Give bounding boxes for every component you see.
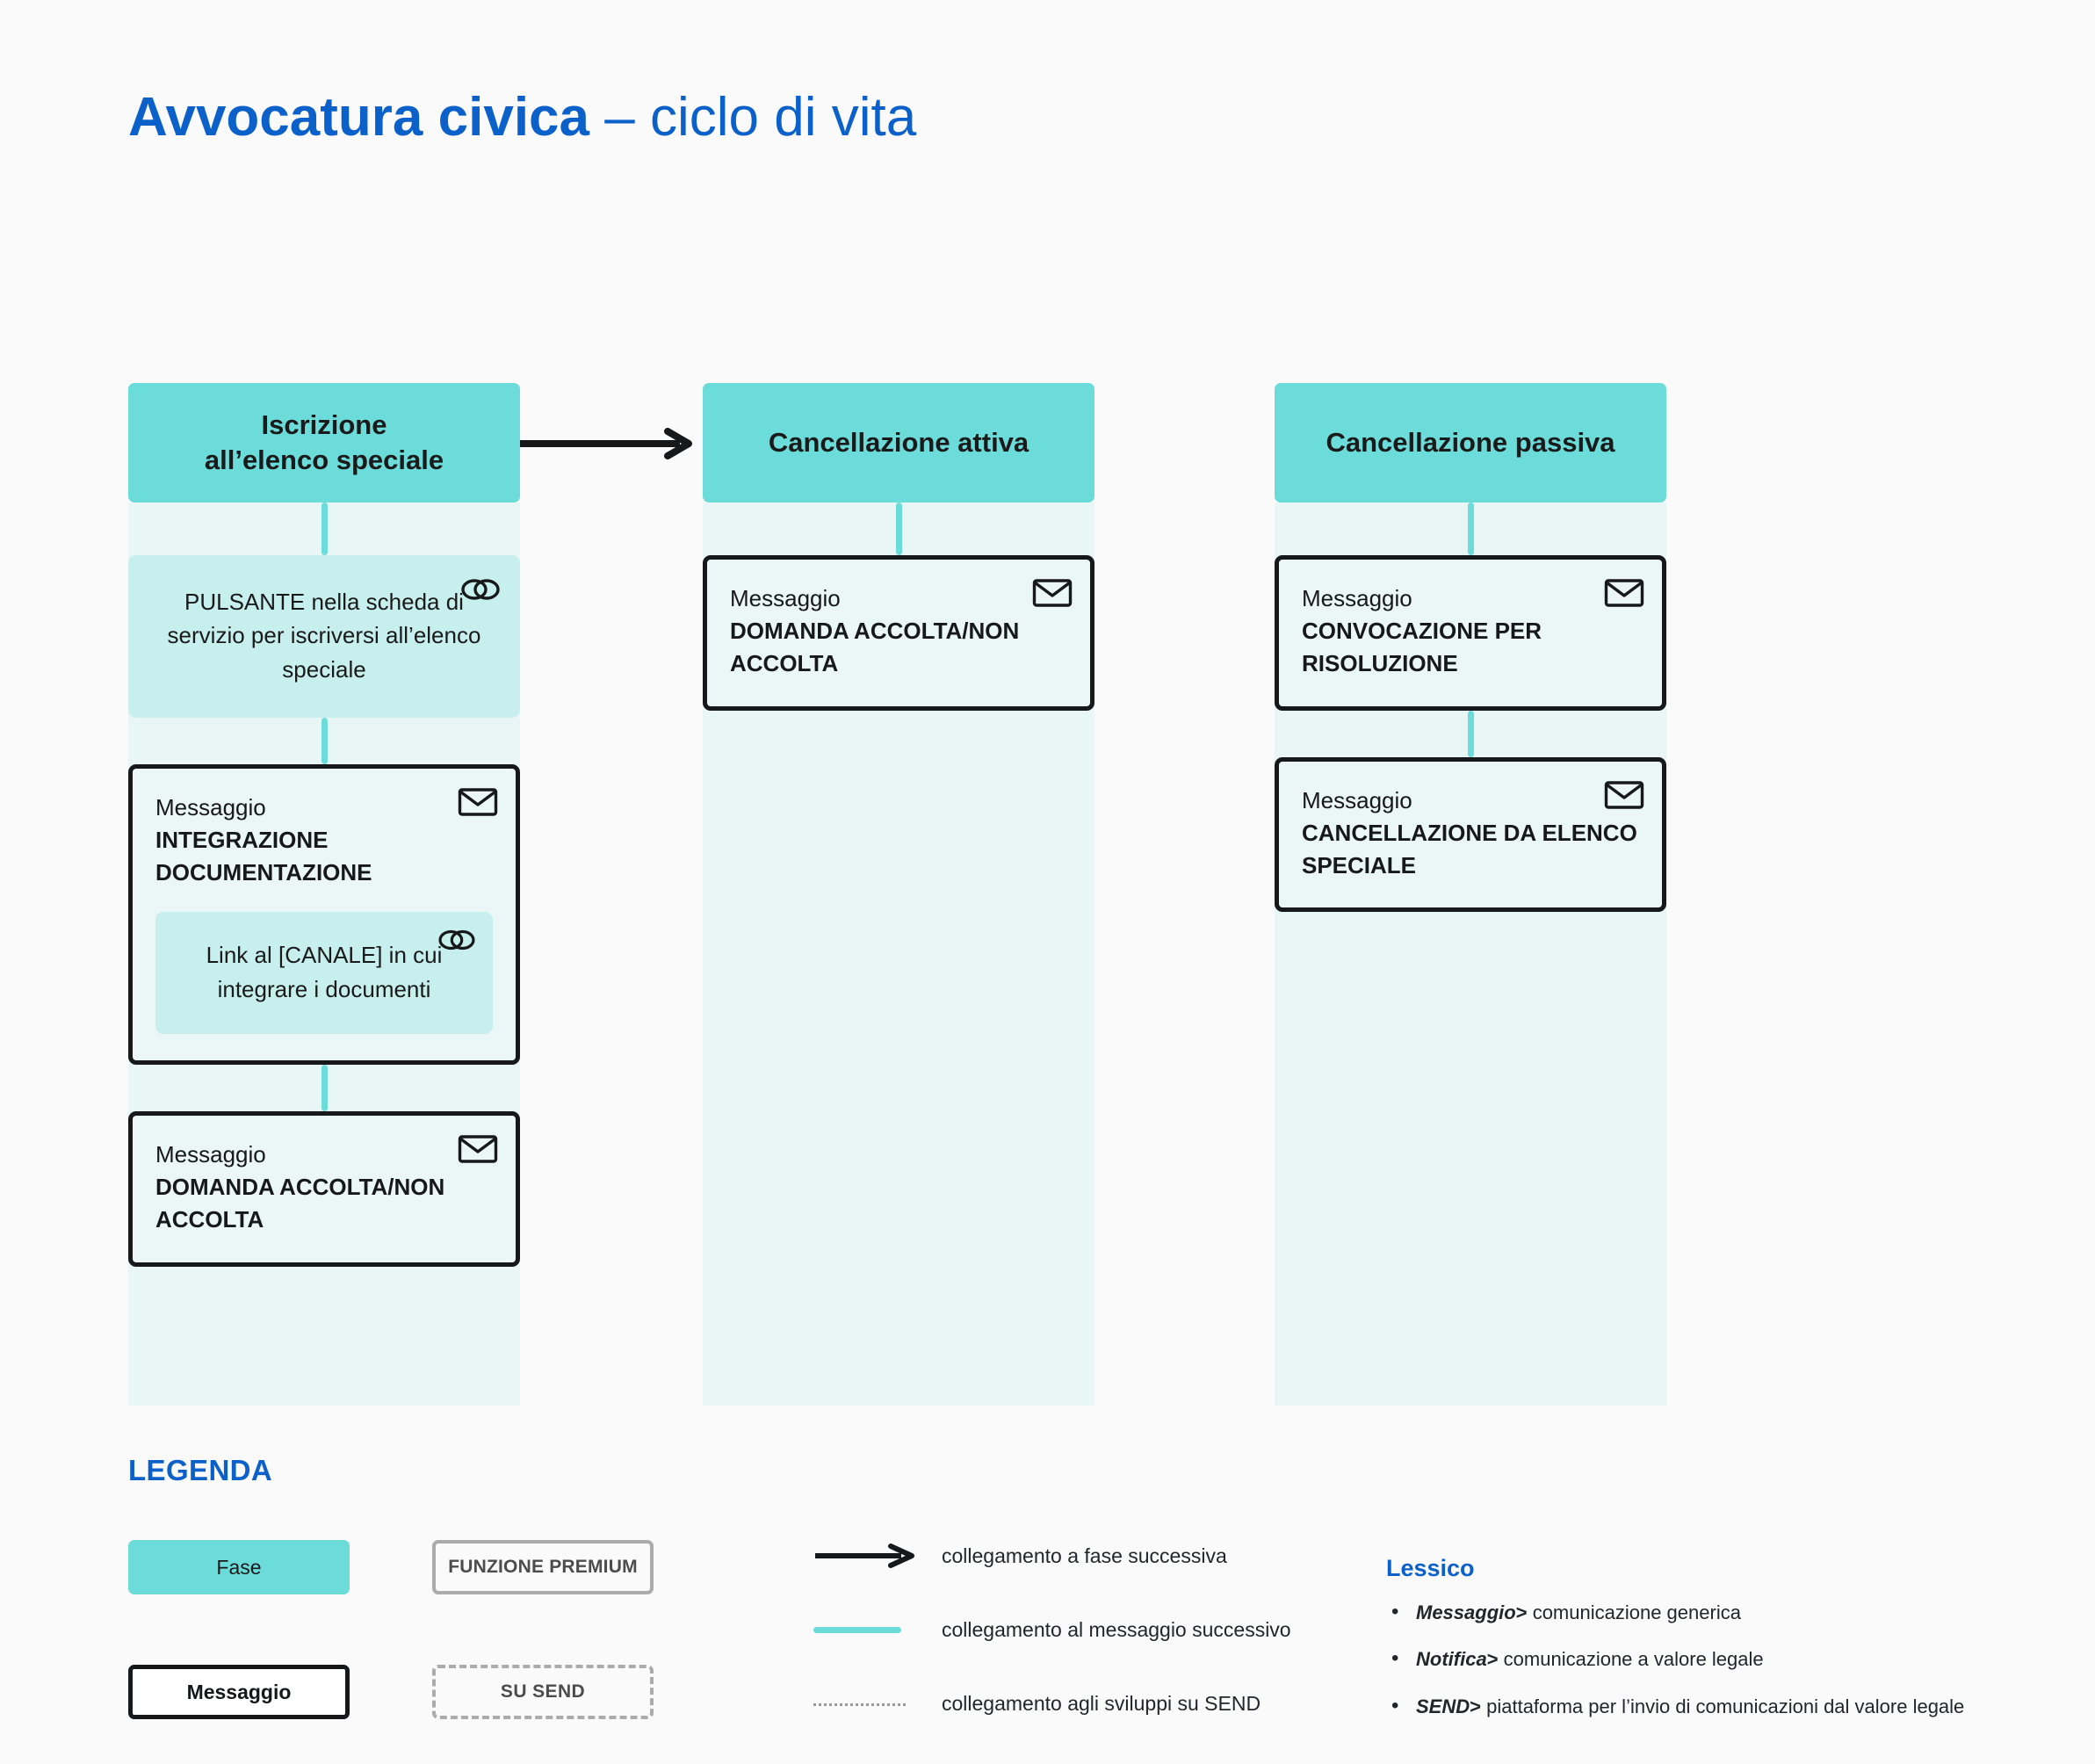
- lessico-separator: >: [1516, 1601, 1528, 1623]
- message-kind: Messaggio: [730, 582, 1067, 615]
- lessico-definition: comunicazione a valore legale: [1504, 1648, 1764, 1670]
- envelope-icon: [1604, 577, 1644, 611]
- message-node-integrazione[interactable]: Messaggio INTEGRAZIONE DOCUMENTAZIONE Li…: [128, 764, 520, 1065]
- legend-label-dotted: collegamento agli sviluppi su SEND: [942, 1694, 1261, 1714]
- premium-node-text: PULSANTE nella scheda di servizio per is…: [168, 589, 481, 683]
- envelope-icon: [1032, 577, 1073, 611]
- connector-line: [896, 502, 902, 555]
- lessico-separator: >: [1470, 1695, 1481, 1717]
- message-node-convocazione[interactable]: Messaggio CONVOCAZIONE PER RISOLUZIONE: [1275, 555, 1666, 711]
- teal-line-icon: [813, 1617, 917, 1642]
- legend-row-teal-line: collegamento al messaggio successivo: [813, 1617, 1291, 1642]
- message-name: CONVOCAZIONE PER RISOLUZIONE: [1302, 615, 1639, 680]
- message-node-domanda-accolta[interactable]: Messaggio DOMANDA ACCOLTA/NON ACCOLTA: [128, 1111, 520, 1267]
- phase-body-cancellazione-passiva: Messaggio CONVOCAZIONE PER RISOLUZIONE M…: [1275, 502, 1666, 1406]
- connector-line: [321, 502, 328, 555]
- legend-chip-fase: Fase: [128, 1540, 350, 1594]
- envelope-icon: [1604, 779, 1644, 813]
- message-kind: Messaggio: [155, 792, 493, 824]
- lessico-definition: comunicazione generica: [1533, 1601, 1741, 1623]
- lessico-term: Messaggio: [1416, 1601, 1516, 1623]
- lessico-item: SEND> piattaforma per l’invio di comunic…: [1416, 1695, 2054, 1718]
- legend-label-teal: collegamento al messaggio successivo: [942, 1620, 1291, 1640]
- legend-row-arrow: collegamento a fase successiva: [813, 1543, 1227, 1568]
- connector-line: [321, 718, 328, 764]
- message-name: CANCELLAZIONE DA ELENCO SPECIALE: [1302, 817, 1639, 882]
- lessico-definition: piattaforma per l’invio di comunicazioni…: [1486, 1695, 1964, 1717]
- page-title-light: – ciclo di vita: [604, 87, 916, 148]
- message-kind: Messaggio: [1302, 582, 1639, 615]
- phase-column-iscrizione: Iscrizione all’elenco speciale PULSANTE …: [128, 383, 520, 1406]
- phase-header-iscrizione[interactable]: Iscrizione all’elenco speciale: [128, 383, 520, 502]
- message-node-cancellazione-elenco[interactable]: Messaggio CANCELLAZIONE DA ELENCO SPECIA…: [1275, 757, 1666, 913]
- phase-header-line2: all’elenco speciale: [205, 445, 444, 475]
- lessico-list: Messaggio> comunicazione generica Notifi…: [1386, 1601, 2054, 1718]
- lessico-section: Lessico Messaggio> comunicazione generic…: [1386, 1555, 2054, 1742]
- page-title: Avvocatura civica – ciclo di vita: [128, 88, 916, 148]
- lessico-title: Lessico: [1386, 1555, 2054, 1582]
- lessico-item: Messaggio> comunicazione generica: [1416, 1601, 2054, 1624]
- arrow-icon: [813, 1543, 917, 1568]
- envelope-icon: [458, 786, 498, 820]
- legend-chip-funzione-premium: FUNZIONE PREMIUM: [432, 1540, 654, 1594]
- arrow-to-next-phase: [520, 428, 696, 459]
- lessico-separator: >: [1487, 1648, 1499, 1670]
- link-icon: [437, 924, 477, 958]
- lessico-term: Notifica: [1416, 1648, 1487, 1670]
- premium-node-pulsante[interactable]: PULSANTE nella scheda di servizio per is…: [128, 555, 520, 718]
- link-icon: [460, 573, 501, 606]
- envelope-icon: [458, 1133, 498, 1167]
- phase-column-cancellazione-passiva: Cancellazione passiva Messaggio CONVOCAZ…: [1275, 383, 1666, 1406]
- premium-node-link-canale[interactable]: Link al [CANALE] in cui integrare i docu…: [155, 912, 493, 1034]
- legend-label-arrow: collegamento a fase successiva: [942, 1546, 1227, 1566]
- lessico-item: Notifica> comunicazione a valore legale: [1416, 1648, 2054, 1671]
- premium-node-text: Link al [CANALE] in cui integrare i docu…: [206, 942, 443, 1001]
- page-title-bold: Avvocatura civica: [128, 87, 589, 148]
- connector-line: [1468, 711, 1474, 757]
- message-kind: Messaggio: [1302, 784, 1639, 817]
- phase-header-line1: Iscrizione: [261, 409, 386, 440]
- legend-chip-su-send: SU SEND: [432, 1665, 654, 1719]
- phase-header-cancellazione-attiva[interactable]: Cancellazione attiva: [703, 383, 1094, 502]
- connector-line: [321, 1065, 328, 1111]
- phase-header-line1: Cancellazione passiva: [1326, 425, 1615, 460]
- phase-column-cancellazione-attiva: Cancellazione attiva Messaggio DOMANDA A…: [703, 383, 1094, 1406]
- lessico-term: SEND: [1416, 1695, 1470, 1717]
- phase-header-cancellazione-passiva[interactable]: Cancellazione passiva: [1275, 383, 1666, 502]
- legend-row-dotted-line: collegamento agli sviluppi su SEND: [813, 1691, 1261, 1716]
- dotted-line-icon: [813, 1691, 917, 1716]
- phase-body-iscrizione: PULSANTE nella scheda di servizio per is…: [128, 502, 520, 1406]
- message-name: INTEGRAZIONE DOCUMENTAZIONE: [155, 824, 493, 889]
- phase-header-line1: Cancellazione attiva: [769, 425, 1029, 460]
- message-name: DOMANDA ACCOLTA/NON ACCOLTA: [730, 615, 1067, 680]
- legend-title: LEGENDA: [128, 1454, 1973, 1487]
- legend-chip-messaggio: Messaggio: [128, 1665, 350, 1719]
- message-name: DOMANDA ACCOLTA/NON ACCOLTA: [155, 1171, 493, 1236]
- phase-body-cancellazione-attiva: Messaggio DOMANDA ACCOLTA/NON ACCOLTA: [703, 502, 1094, 1406]
- connector-line: [1468, 502, 1474, 555]
- message-node-domanda-accolta[interactable]: Messaggio DOMANDA ACCOLTA/NON ACCOLTA: [703, 555, 1094, 711]
- message-kind: Messaggio: [155, 1139, 493, 1171]
